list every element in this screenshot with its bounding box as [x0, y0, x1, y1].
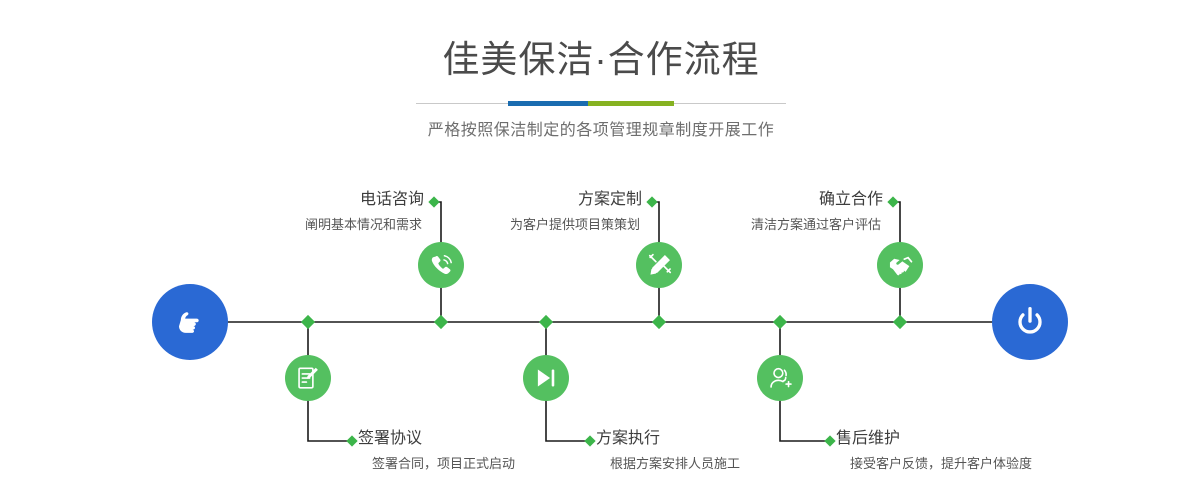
flow-connectors — [0, 0, 1202, 502]
label-sign-agreement: 签署协议 签署合同，项目正式启动 — [358, 429, 515, 473]
label-phone-consult: 电话咨询 阐明基本情况和需求 — [305, 190, 424, 234]
label-diamond-plan-execute — [584, 435, 595, 446]
step-icon-sign-agreement[interactable] — [285, 355, 331, 401]
label-plan-custom: 方案定制 为客户提供项目策策划 — [510, 190, 642, 234]
label-diamond-confirm-coop — [887, 196, 898, 207]
label-desc: 接受客户反馈，提升客户体验度 — [836, 455, 1032, 473]
label-title: 方案执行 — [596, 429, 740, 449]
label-desc: 为客户提供项目策策划 — [510, 216, 642, 234]
label-diamond-plan-custom — [646, 196, 657, 207]
headset-support-icon — [767, 365, 793, 391]
phone-call-icon — [428, 252, 455, 279]
label-after-sales: 售后维护 接受客户反馈，提升客户体验度 — [836, 429, 1032, 473]
label-desc: 根据方案安排人员施工 — [596, 455, 740, 473]
flow-start-node[interactable] — [152, 284, 228, 360]
play-next-icon — [533, 365, 559, 391]
label-desc: 阐明基本情况和需求 — [305, 216, 424, 234]
document-edit-icon — [295, 365, 321, 391]
pencil-design-icon — [646, 252, 673, 279]
spine-diamond-5 — [773, 315, 787, 329]
step-icon-plan-execute[interactable] — [523, 355, 569, 401]
spine-diamond-4 — [652, 315, 666, 329]
spine-diamond-3 — [539, 315, 553, 329]
step-icon-after-sales[interactable] — [757, 355, 803, 401]
handshake-icon — [887, 252, 914, 279]
cooperation-flow-infographic: 佳美保洁·合作流程 严格按照保洁制定的各项管理规章制度开展工作 — [0, 0, 1202, 502]
label-plan-execute: 方案执行 根据方案安排人员施工 — [596, 429, 740, 473]
label-desc: 清洁方案通过客户评估 — [751, 216, 883, 234]
power-icon — [1010, 302, 1050, 342]
label-diamond-sign-agreement — [346, 435, 357, 446]
label-title: 确立合作 — [751, 190, 883, 210]
step-icon-confirm-coop[interactable] — [877, 242, 923, 288]
label-title: 方案定制 — [510, 190, 642, 210]
label-diamond-phone-consult — [428, 196, 439, 207]
label-desc: 签署合同，项目正式启动 — [358, 455, 515, 473]
label-title: 电话咨询 — [305, 190, 424, 210]
pointing-hand-icon — [168, 300, 212, 344]
label-confirm-coop: 确立合作 清洁方案通过客户评估 — [751, 190, 883, 234]
spine-diamond-2 — [434, 315, 448, 329]
step-icon-plan-custom[interactable] — [636, 242, 682, 288]
spine-diamond-6 — [893, 315, 907, 329]
flow-end-node[interactable] — [992, 284, 1068, 360]
spine-diamond-1 — [301, 315, 315, 329]
label-title: 售后维护 — [836, 429, 1032, 449]
step-icon-phone-consult[interactable] — [418, 242, 464, 288]
label-title: 签署协议 — [358, 429, 515, 449]
label-diamond-after-sales — [824, 435, 835, 446]
